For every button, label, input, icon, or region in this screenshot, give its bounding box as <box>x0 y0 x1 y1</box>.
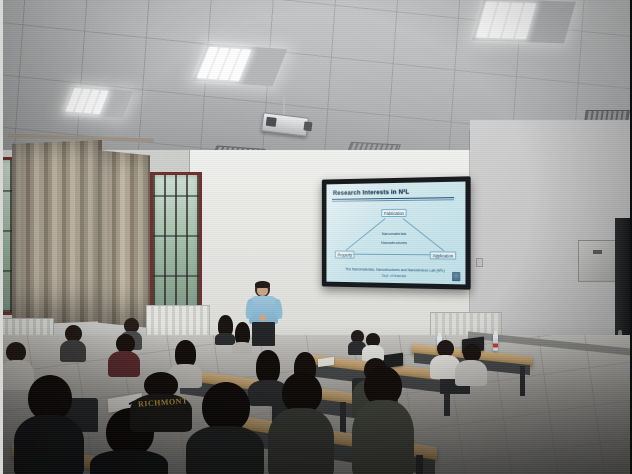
student-front-2 <box>14 375 84 474</box>
ceiling-light-center <box>193 44 288 87</box>
presenter-hand <box>259 315 267 321</box>
slide: Research Interests in N²L Fabrication Pr… <box>326 182 465 285</box>
ceiling-light-left <box>63 86 133 118</box>
university-seal-icon <box>452 272 460 281</box>
triangle-node-right: Application <box>430 251 456 259</box>
projection-screen: Research Interests in N²L Fabrication Pr… <box>322 176 471 289</box>
triangle-center-label-1: Nanomaterials <box>382 231 407 236</box>
triangle-node-top: Fabrication <box>381 209 407 217</box>
student-front-5 <box>268 372 334 474</box>
window-left <box>150 172 202 320</box>
water-bottle[interactable] <box>493 334 498 351</box>
presenter-hair <box>255 281 270 288</box>
student-mid-2 <box>60 325 86 359</box>
triangle-left-edge <box>346 218 386 250</box>
student-front-6 <box>352 366 414 474</box>
student-mid-3 <box>108 334 140 374</box>
curtain-left[interactable] <box>12 140 102 325</box>
student-front-4 <box>186 382 264 474</box>
triangle-node-left: Property <box>335 251 355 259</box>
presenter-trousers <box>252 322 275 346</box>
slide-title: Research Interests in N²L <box>333 189 409 197</box>
projector-pole-mount <box>283 95 285 117</box>
curtain-right[interactable] <box>98 150 150 328</box>
classroom-photo: Research Interests in N²L Fabrication Pr… <box>0 0 632 474</box>
triangle-center-label-2: Nanostructures <box>381 240 407 245</box>
desk-row4-leg <box>520 366 525 396</box>
desk-row1-leg <box>416 455 423 474</box>
radiator-center <box>146 305 210 337</box>
student-back-2 <box>362 333 384 359</box>
triangle-right-edge <box>403 218 445 251</box>
wall-mounted-control-panel <box>578 240 616 282</box>
student-with-logo-shirt: RICHMONT <box>130 372 192 430</box>
student-back-6 <box>232 322 252 350</box>
ceiling-light-right <box>472 0 576 43</box>
slide-subfooter: Dept. of Materials <box>326 273 465 279</box>
window-security-bars <box>153 175 199 317</box>
light-switch[interactable] <box>476 258 483 267</box>
triangle-bottom-edge <box>349 254 439 256</box>
student-back-4 <box>455 344 487 384</box>
